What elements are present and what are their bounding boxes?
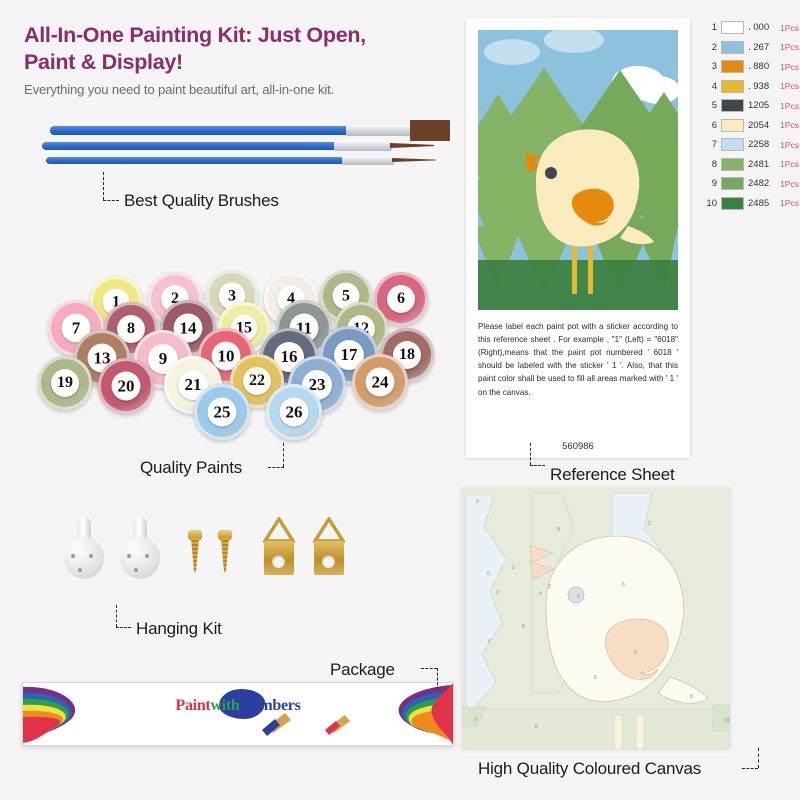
brushes-leader-vertical <box>103 172 104 200</box>
paint-pot-number: 19 <box>51 369 79 397</box>
legend-row: 620541Pcs <box>700 116 800 136</box>
legend-row: 512051Pcs <box>700 96 800 116</box>
page-title: All-In-One Painting Kit: Just Open, Pain… <box>24 22 454 76</box>
legend-quantity: 1Pcs <box>780 140 799 150</box>
legend-row: 1. 0001Pcs <box>700 18 800 38</box>
legend-color-code: . 267 <box>748 42 775 53</box>
legend-quantity: 1Pcs <box>780 198 799 208</box>
legend-index: 9 <box>700 178 717 189</box>
reference-leader-vertical <box>530 443 531 465</box>
paints-leader-horizontal <box>268 467 284 468</box>
paint-pot-number: 26 <box>280 398 309 427</box>
legend-color-swatch <box>721 158 744 171</box>
legend-index: 10 <box>700 198 717 209</box>
reference-artwork <box>478 30 678 310</box>
legend-quantity: 1Pcs <box>780 159 799 169</box>
canvas-region-number: 9 <box>474 717 477 723</box>
canvas-region-number: 9 <box>476 499 479 505</box>
legend-color-code: 2258 <box>748 139 775 150</box>
color-legend-table: 1. 0001Pcs2. 2671Pcs3. 8801Pcs4. 9381Pcs… <box>700 18 800 213</box>
brand-part1: Paint <box>176 697 211 714</box>
legend-quantity: 1Pcs <box>780 101 799 111</box>
canvas-region-number: 8 <box>557 527 560 533</box>
reference-instructions: Please label each paint pot with a stick… <box>478 320 678 399</box>
brush-liner <box>46 157 436 164</box>
brushes-leader-horizontal <box>103 200 119 201</box>
legend-color-code: . 938 <box>748 81 775 92</box>
legend-quantity: 1Pcs <box>780 81 799 91</box>
brushes-image <box>12 112 452 182</box>
canvas-region-number: 5 <box>577 594 580 600</box>
legend-color-swatch <box>721 80 744 93</box>
canvas-leader-horizontal <box>742 768 758 769</box>
legend-color-code: . 880 <box>748 61 775 72</box>
legend-row: 824811Pcs <box>700 155 800 175</box>
hanging-kit-image <box>52 505 352 600</box>
paint-pot-number: 20 <box>112 372 141 401</box>
callout-canvas: High Quality Coloured Canvas <box>478 759 701 779</box>
legend-row: 722581Pcs <box>700 135 800 155</box>
package-leader-vertical <box>437 668 438 690</box>
page-title-line1: All-In-One Painting Kit: Just Open, <box>24 22 454 49</box>
paint-pot-number: 24 <box>366 368 395 397</box>
callout-hanging-kit: Hanging Kit <box>136 619 222 639</box>
package-brand: PaintwithNumbers <box>23 697 453 715</box>
reference-leader-horizontal <box>530 465 545 466</box>
package-box-image: PaintwithNumbers <box>22 682 454 746</box>
canvas-region-number: 6 <box>487 571 490 577</box>
brush-round <box>42 142 434 150</box>
canvas-image: 9282636425863689810 <box>462 487 730 749</box>
legend-index: 6 <box>700 120 717 131</box>
hanging-leader-vertical <box>116 605 117 627</box>
legend-color-swatch <box>721 177 744 190</box>
canvas-region-number: 8 <box>690 694 693 700</box>
legend-color-swatch <box>721 119 744 132</box>
legend-index: 5 <box>700 100 717 111</box>
canvas-outline-artwork <box>462 487 730 749</box>
legend-color-swatch <box>721 41 744 54</box>
triangle-hanger-1 <box>260 517 298 575</box>
legend-row: 4. 9381Pcs <box>700 77 800 97</box>
legend-row: 1024851Pcs <box>700 194 800 214</box>
callout-brushes: Best Quality Brushes <box>124 191 279 211</box>
brush-flat <box>50 126 450 135</box>
legend-row: 2. 2671Pcs <box>700 38 800 58</box>
triangle-hanger-2 <box>310 517 348 575</box>
canvas-region-number: 8 <box>535 724 538 730</box>
paint-pot-24: 24 <box>352 354 408 410</box>
paint-pot-26: 26 <box>266 384 322 440</box>
canvas-region-number: 2 <box>648 521 651 527</box>
reference-code: 560986 <box>466 441 690 452</box>
canvas-region-number: 4 <box>539 591 542 597</box>
legend-row: 3. 8801Pcs <box>700 57 800 77</box>
legend-index: 2 <box>700 42 717 53</box>
reference-sheet-image: Please label each paint pot with a stick… <box>466 18 690 458</box>
legend-color-code: 1205 <box>748 100 775 111</box>
paint-pots-image: 1234567814151112139101617181920212223242… <box>8 258 428 438</box>
legend-quantity: 1Pcs <box>780 120 799 130</box>
legend-quantity: 1Pcs <box>780 42 799 52</box>
callout-reference-sheet: Reference Sheet <box>550 465 675 485</box>
canvas-region-number: 10 <box>724 718 730 724</box>
legend-index: 7 <box>700 139 717 150</box>
wall-hook-2 <box>120 517 160 579</box>
canvas-region-number: 6 <box>622 582 625 588</box>
paint-pot-25: 25 <box>194 384 250 440</box>
legend-quantity: 1Pcs <box>780 62 799 72</box>
callout-paints: Quality Paints <box>140 458 242 478</box>
screw-2 <box>218 530 232 578</box>
brand-part2: with <box>210 697 239 714</box>
legend-index: 4 <box>700 81 717 92</box>
canvas-region-number: 2 <box>496 590 499 596</box>
legend-index: 3 <box>700 61 717 72</box>
hanging-leader-horizontal <box>116 627 131 628</box>
paints-leader-vertical <box>283 443 284 467</box>
legend-color-code: 2485 <box>748 198 775 209</box>
page-title-line2: Paint & Display! <box>24 49 454 76</box>
canvas-region-number: 3 <box>634 650 637 656</box>
legend-row: 924821Pcs <box>700 174 800 194</box>
paint-pot-number: 6 <box>387 285 415 313</box>
bird-forest-illustration <box>478 30 678 310</box>
canvas-region-number: 2 <box>512 565 515 571</box>
legend-color-swatch <box>721 60 744 73</box>
paint-pot-number: 22 <box>243 367 271 395</box>
paint-pot-number: 25 <box>208 398 237 427</box>
brand-part3: Numbers <box>239 697 300 714</box>
triangle-hanger-icon <box>313 517 345 543</box>
paint-pot-19: 19 <box>38 356 92 410</box>
triangle-hanger-icon <box>263 517 295 543</box>
legend-color-code: 2482 <box>748 178 775 189</box>
infographic-page: All-In-One Painting Kit: Just Open, Pain… <box>0 0 800 800</box>
page-subtitle: Everything you need to paint beautiful a… <box>24 82 464 97</box>
wall-hook-1 <box>64 517 104 579</box>
canvas-region-number: 8 <box>522 624 525 630</box>
legend-color-swatch <box>721 21 744 34</box>
screw-1 <box>188 530 202 578</box>
legend-color-code: 2054 <box>748 120 775 131</box>
legend-index: 8 <box>700 159 717 170</box>
legend-quantity: 1Pcs <box>780 23 799 33</box>
legend-color-swatch <box>721 99 744 112</box>
canvas-region-number: 6 <box>488 639 491 645</box>
legend-color-swatch <box>721 197 744 210</box>
legend-color-code: . 000 <box>748 22 775 33</box>
canvas-region-number: 3 <box>548 584 551 590</box>
canvas-leader-vertical <box>758 748 759 768</box>
legend-color-swatch <box>721 138 744 151</box>
legend-quantity: 1Pcs <box>780 179 799 189</box>
legend-color-code: 2481 <box>748 159 775 170</box>
callout-package: Package <box>330 660 395 680</box>
canvas-region-number: 6 <box>594 675 597 681</box>
package-leader-horizontal <box>421 668 437 669</box>
paint-pot-20: 20 <box>98 358 154 414</box>
legend-index: 1 <box>700 22 717 33</box>
